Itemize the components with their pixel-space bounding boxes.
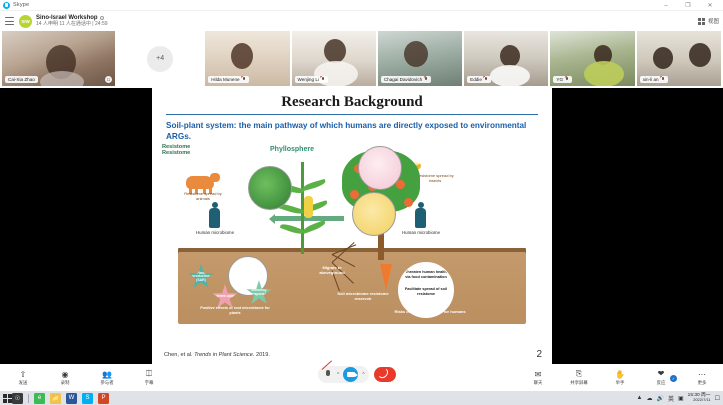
overflow-participants[interactable]: +4: [117, 31, 203, 86]
mic-muted-icon: [321, 77, 325, 82]
pin-icon[interactable]: ☐: [105, 76, 112, 83]
citation-year: . 2019.: [253, 352, 270, 358]
mic-muted-icon: [565, 77, 569, 82]
fruit-bubble: [352, 192, 396, 236]
participant-name: Wenjing Li: [298, 77, 319, 82]
powerpoint-icon[interactable]: P: [98, 393, 109, 404]
file-explorer-icon[interactable]: 📁: [50, 393, 61, 404]
slide-subtitle: Soil-plant system: the main pathway of w…: [166, 120, 538, 142]
system-tray: ▲ ☁ 🔊 英 ▣ 15:30 周一 2022/7/11 ☐: [637, 393, 720, 402]
send-label: 发送: [19, 380, 28, 386]
human-figure-left: [208, 202, 221, 228]
mic-muted-icon: [661, 77, 665, 82]
conversation-subtitle: 14 人申明 11 人在通话中 | 24:59: [36, 22, 108, 28]
send-button[interactable]: ⇧ 发送: [10, 370, 36, 386]
more-label: 更多: [698, 380, 707, 386]
captions-button[interactable]: ⎅ 字幕: [136, 370, 162, 386]
reactions-button[interactable]: ❤ ✓ 反应: [648, 370, 674, 386]
end-call-button[interactable]: [374, 367, 396, 382]
group-avatar: SIW: [19, 15, 32, 28]
chat-label: 聊天: [534, 380, 543, 386]
av-pill: ^ ^: [318, 366, 369, 383]
phone-hangup-icon: [379, 369, 390, 380]
more-icon: ⋯: [698, 370, 707, 379]
participant-name-chip: YG: [553, 76, 572, 83]
skype-taskbar-icon[interactable]: S: [82, 393, 93, 404]
participant-name-chip: Wenjing Li: [295, 76, 328, 83]
participant-name-chip: xin-li an: [640, 76, 668, 83]
start-button-icon[interactable]: [3, 394, 12, 403]
conversation-header: SIW Sino-Israel Workshop 14 人申明 11 人在通话中…: [0, 11, 723, 31]
camera-icon: [347, 372, 355, 378]
citation-journal: Trends in Plant Science: [194, 352, 253, 358]
mic-muted-icon: [484, 77, 488, 82]
participant-strip: Cai-Xia Zhao ☐ +4 Hilda Munene Wenjing L…: [0, 31, 723, 88]
mic-muted-icon: [242, 77, 246, 82]
app-title: Skype: [13, 2, 29, 8]
center-call-controls: ^ ^: [318, 366, 396, 383]
menu-icon[interactable]: [5, 17, 14, 25]
shared-screen-stage[interactable]: Research Background Soil-plant system: t…: [0, 88, 723, 364]
tray-battery-icon[interactable]: ▣: [678, 395, 684, 402]
participant-tile[interactable]: Eddie: [464, 31, 548, 86]
minimize-button[interactable]: –: [655, 0, 677, 11]
mic-muted-icon[interactable]: [322, 369, 333, 380]
presentation-slide: Research Background Soil-plant system: t…: [152, 88, 552, 364]
action-center-icon[interactable]: ☐: [715, 395, 720, 402]
participant-name-chip: Cai-Xia Zhao: [5, 76, 38, 83]
share-screen-button[interactable]: ⎘ 共享屏幕: [566, 370, 592, 386]
participant-name: Hilda Munene: [211, 77, 239, 82]
participant-name: Cai-Xia Zhao: [8, 77, 35, 82]
slide-page-number: 2: [536, 349, 542, 360]
chevron-up-icon[interactable]: ^: [337, 372, 339, 378]
participant-name: Chagai Davidovich: [384, 77, 422, 82]
leaf-microbe-bubble: [248, 166, 292, 210]
record-button[interactable]: ◉ 录制: [52, 370, 78, 386]
participant-tile[interactable]: xin-li an: [637, 31, 721, 86]
label-human-microbiome-left: Human microbiome: [192, 230, 238, 235]
heart-icon: ❤: [657, 370, 666, 379]
risk-callout-bubble: Threaten human health via food contamina…: [398, 262, 454, 318]
maximize-button[interactable]: ❐: [677, 0, 699, 11]
clock-date: 2022/7/11: [693, 398, 711, 402]
share-screen-icon: ⎘: [575, 370, 584, 379]
participants-label: 参与者: [100, 380, 113, 386]
raise-hand-icon: ✋: [616, 370, 625, 379]
header-right-controls: 视图: [698, 11, 719, 31]
people-icon: 👥: [103, 370, 112, 379]
left-controls: ⇧ 发送 ◉ 录制 👥 参与者 ⎅ 字幕: [10, 364, 162, 391]
grid-view-icon[interactable]: [698, 18, 705, 25]
participants-button[interactable]: 👥 参与者: [94, 370, 120, 386]
participant-tile[interactable]: Chagai Davidovich: [378, 31, 462, 86]
slide-title: Research Background: [152, 94, 552, 111]
upload-icon: ⇧: [19, 370, 28, 379]
window-controls: – ❐ ✕: [655, 0, 721, 11]
label-facilitate: Facilitate spread of soil resistome: [399, 287, 453, 304]
citation-author: Chen, et al.: [164, 352, 194, 358]
participant-name: YG: [556, 77, 563, 82]
windows-taskbar: ☉ e 📁 W S P ▲ ☁ 🔊 英 ▣ 15:30 周一 2022/7/11…: [0, 391, 723, 405]
captions-icon: ⎅: [145, 370, 154, 379]
participant-tile[interactable]: Hilda Munene: [205, 31, 289, 86]
slide-citation: Chen, et al. Trends in Plant Science. 20…: [164, 352, 270, 358]
search-icon[interactable]: ☉: [12, 393, 23, 404]
slide-diagram: Phyllosphere Resistome spread by animals…: [162, 144, 542, 324]
info-icon[interactable]: [100, 16, 104, 20]
participant-name-chip: Eddie: [467, 76, 491, 83]
label-positive-effects: Positive effects of root microbiome for …: [198, 306, 272, 315]
mic-muted-icon: [424, 77, 428, 82]
participant-tile[interactable]: YG: [550, 31, 634, 86]
conversation-meta: Sino-Israel Workshop 14 人申明 11 人在通话中 | 2…: [36, 15, 108, 28]
chat-button[interactable]: ✉ 聊天: [525, 370, 551, 386]
participant-name-chip: Chagai Davidovich: [381, 76, 431, 83]
captions-label: 字幕: [145, 380, 154, 386]
word-icon[interactable]: W: [66, 393, 77, 404]
title-bar: Skype – ❐ ✕: [0, 0, 723, 11]
label-soil-reservoir: Soil microbiome resistome reservoir: [330, 292, 396, 302]
participant-name: Eddie: [470, 77, 482, 82]
chat-icon: ✉: [534, 370, 543, 379]
reaction-badge-icon: ✓: [670, 375, 677, 382]
tray-network-icon[interactable]: ☁: [647, 395, 653, 402]
participant-name-chip: Hilda Munene: [208, 76, 248, 83]
raise-hand-label: 举手: [616, 380, 625, 386]
camera-button[interactable]: [343, 367, 358, 382]
tray-ime-icon[interactable]: 英: [668, 394, 674, 403]
tray-volume-icon[interactable]: 🔊: [657, 395, 664, 402]
title-divider: [166, 114, 538, 115]
record-icon: ◉: [61, 370, 70, 379]
right-controls: ✉ 聊天 ⎘ 共享屏幕 ✋ 举手 ❤ ✓ 反应 ⋯ 更多: [525, 364, 715, 391]
participant-tile[interactable]: Wenjing Li: [292, 31, 376, 86]
flower-bubble: [358, 146, 402, 190]
view-toggle-label[interactable]: 视图: [708, 17, 719, 25]
label-phyllosphere: Phyllosphere: [270, 146, 314, 153]
tray-chevron-icon[interactable]: ▲: [637, 395, 643, 401]
chevron-up-icon[interactable]: ^: [362, 372, 364, 378]
reactions-label: 反应: [657, 380, 666, 386]
label-migrate: Migrate to aboveground: [314, 266, 350, 276]
skype-logo-icon: [3, 2, 10, 9]
raise-hand-button[interactable]: ✋ 举手: [607, 370, 633, 386]
participant-name: xin-li an: [643, 77, 659, 82]
participant-tile-active[interactable]: Cai-Xia Zhao ☐: [2, 31, 115, 86]
skype-meeting-window: Skype – ❐ ✕ SIW Sino-Israel Workshop 14 …: [0, 0, 723, 405]
overflow-count: +4: [147, 46, 173, 72]
share-screen-label: 共享屏幕: [570, 380, 588, 386]
label-resistome-spread-animals: Resistome spread by animals: [180, 192, 226, 202]
more-button[interactable]: ⋯ 更多: [689, 370, 715, 386]
edge-icon[interactable]: e: [34, 393, 45, 404]
record-label: 录制: [61, 380, 70, 386]
close-button[interactable]: ✕: [699, 0, 721, 11]
taskbar-clock[interactable]: 15:30 周一 2022/7/11: [688, 393, 711, 402]
taskbar-divider: [28, 394, 29, 403]
